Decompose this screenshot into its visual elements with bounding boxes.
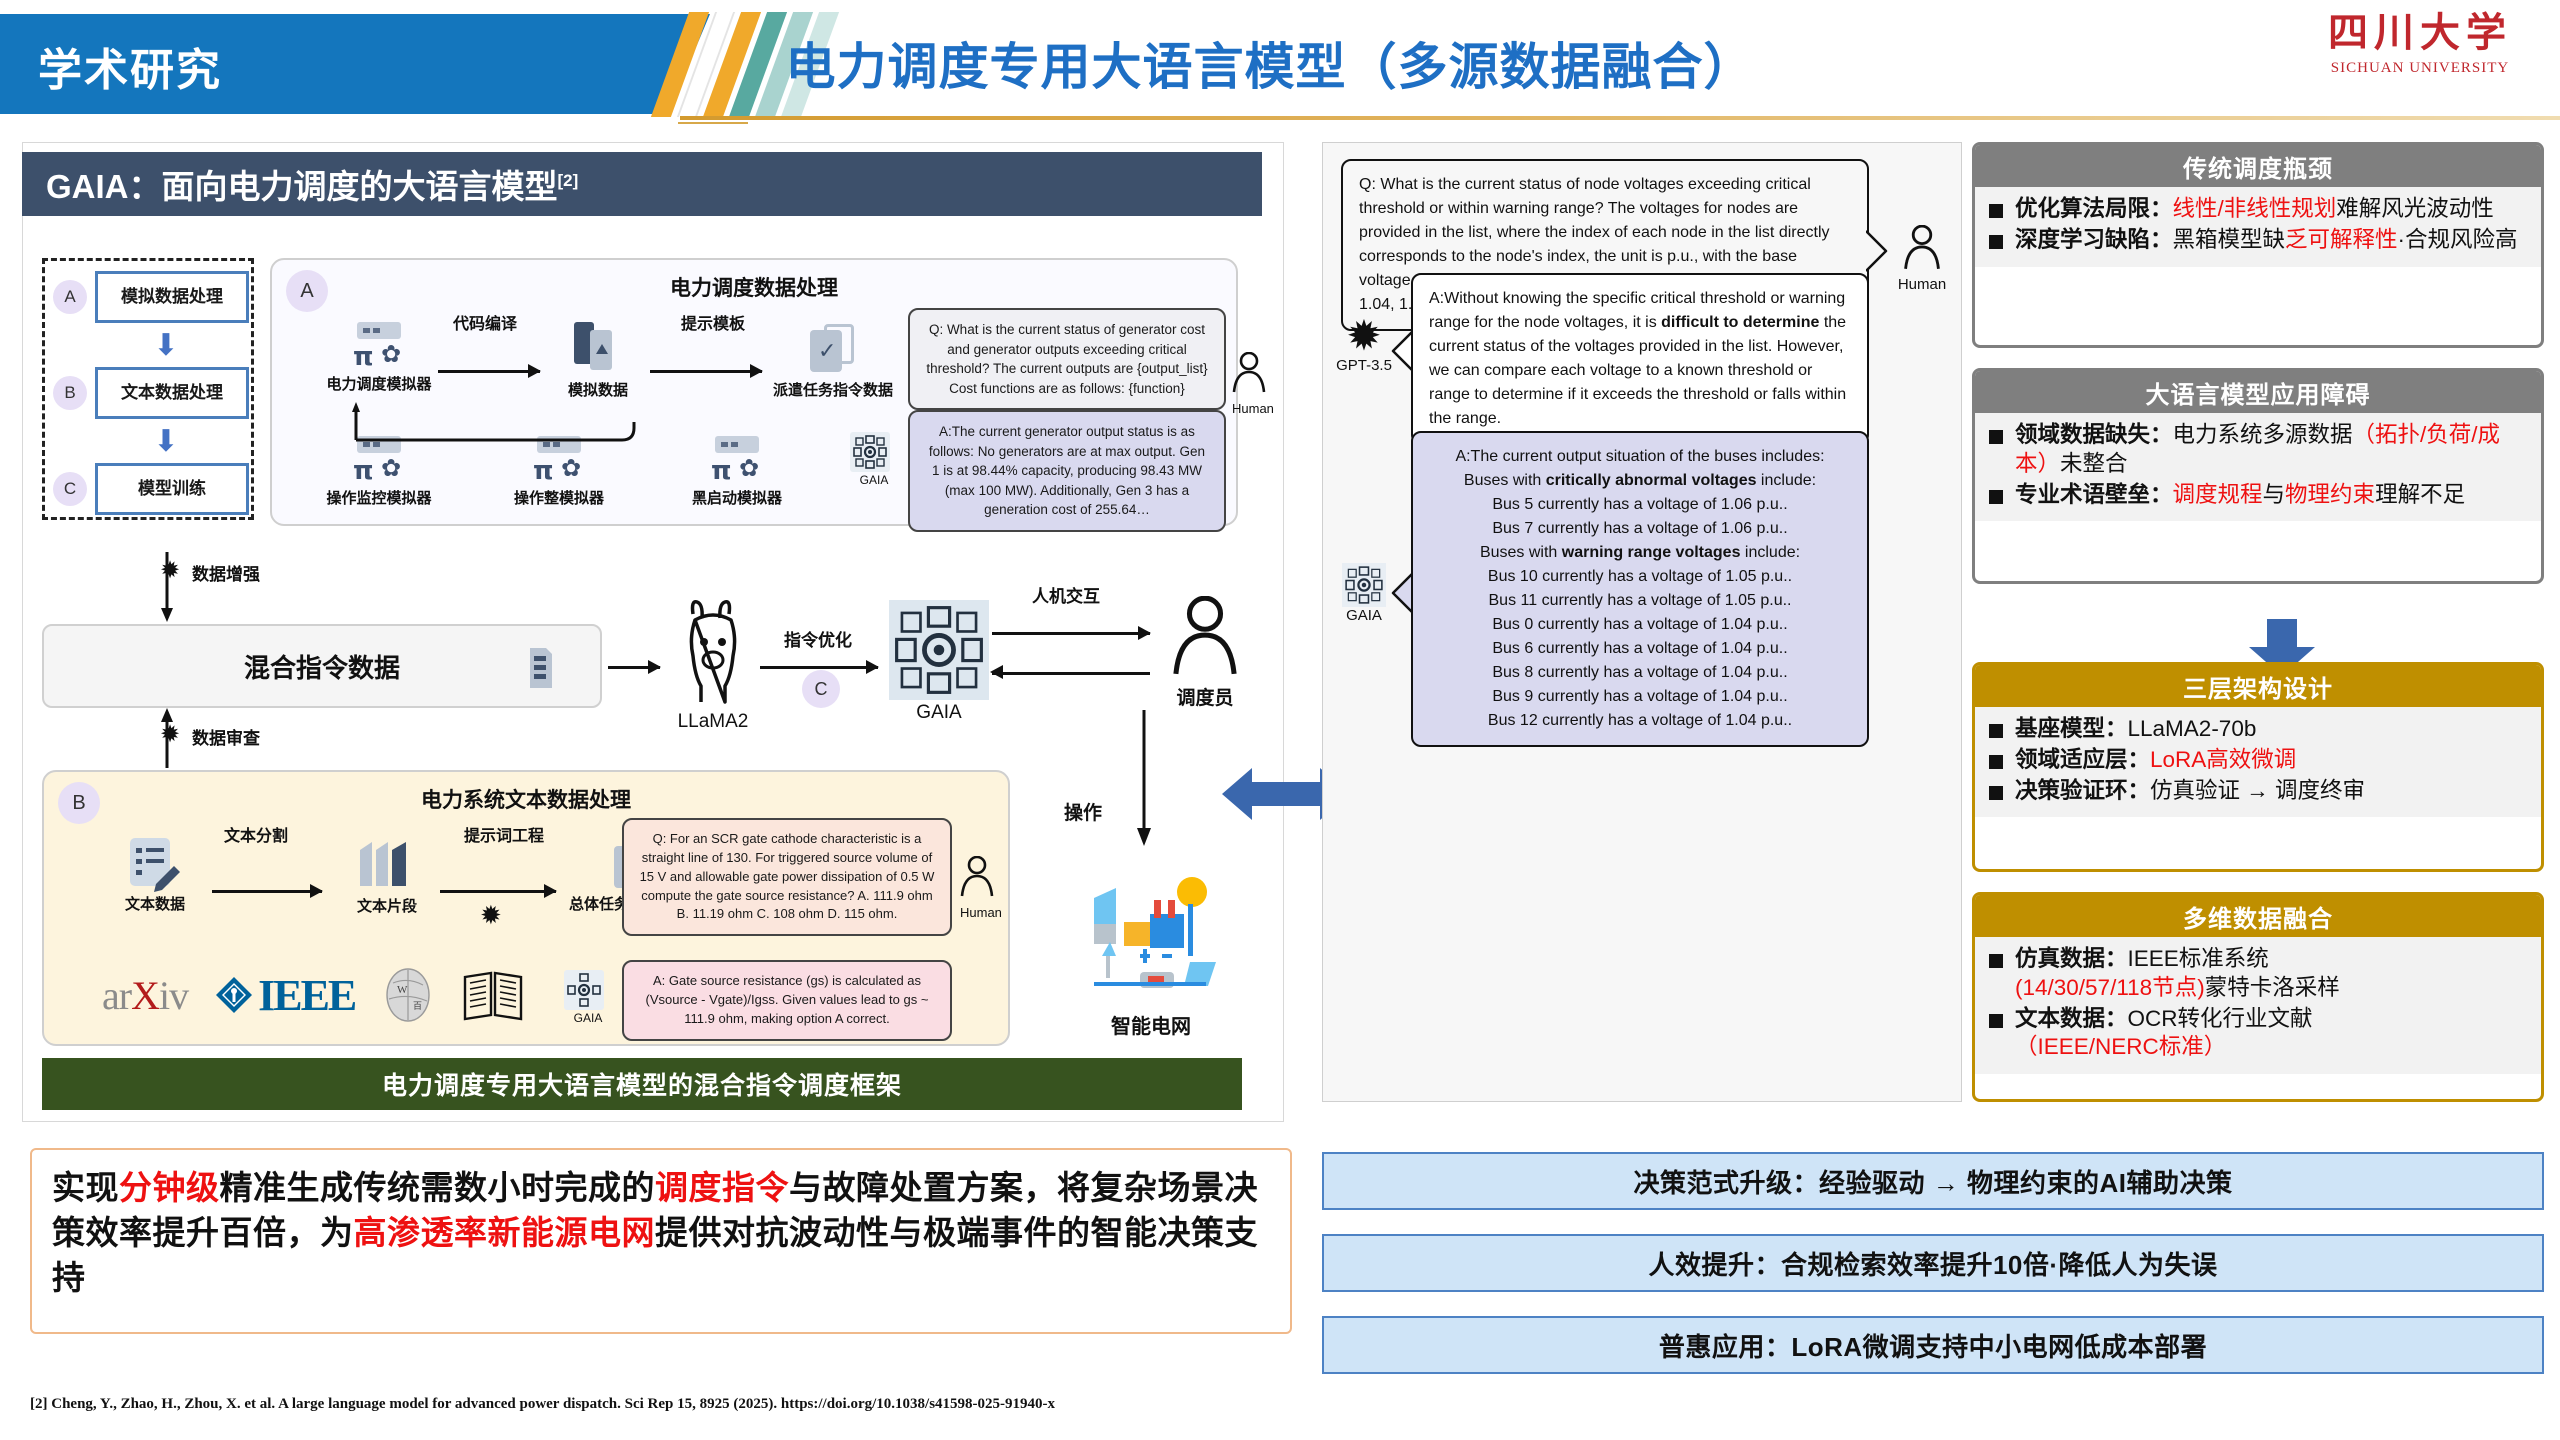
bullet-square-icon [1989,755,2003,769]
arrow-mix-to-llama-icon [608,666,660,669]
flow-label-operate: 操作 [1064,798,1102,825]
human-icon [1903,225,1941,271]
mid-human-label: Human [1893,276,1951,293]
flow-label-prompt-template: 提示模板 [658,316,768,334]
mid-gpt-answer-bold: difficult to determine [1661,314,1819,331]
bullet-seg: IEEE标准系统 [2128,946,2269,971]
node-label-blackstart-simulator: 黑启动模拟器 [672,490,802,507]
node-text-data: 文本数据 [100,836,210,913]
bullet-seg: 文本数据： [2015,1006,2128,1031]
section-a-human: Human [1232,352,1274,416]
card-traditional-bottleneck: 传统调度瓶颈 优化算法局限：线性/非线性规划难解风光波动性 深度学习缺陷：黑箱模… [1972,142,2544,348]
mid-gaia-crit-heading: Buses with critically abnormal voltages … [1429,469,1851,493]
list-item: Bus 6 currently has a voltage of 1.04 p.… [1429,637,1851,661]
bullet-row: 决策验证环：仿真验证 → 调度终审 [1989,777,2527,806]
card-multi-source-fusion: 多维数据融合 仿真数据：IEEE标准系统(14/30/57/118节点)蒙特卡洛… [1972,892,2544,1102]
svg-text:百: 百 [413,1001,422,1011]
flow-label-data-audit: 数据审查 [192,724,260,749]
node-label-dispatch-instruction-data: 派遣任务指令数据 [770,382,896,399]
node-label-text-fragment: 文本片段 [332,898,442,915]
flow-label-data-augmentation: 数据增强 [192,560,260,585]
stage-badge-c: C [53,472,87,506]
ieee-diamond-icon [214,975,254,1015]
ops-whole-simulator-icon: π✿ [531,436,587,486]
section-a-gaia-label: GAIA [850,473,898,487]
stage-row-a: A 模拟数据处理 [53,269,249,325]
bullet-seg: 物理约束 [2285,482,2375,507]
list-item: Bus 12 currently has a voltage of 1.04 p… [1429,709,1851,733]
bullet-text: 文本数据：OCR转化行业文献（IEEE/NERC标准） [2015,1005,2313,1063]
bullet-square-icon [1989,786,2003,800]
ieee-logo: IEEE [214,970,355,1021]
section-b-question-text: Q: For an SCR gate cathode characteristi… [640,831,935,921]
stage-row-b: B 文本数据处理 [53,365,249,421]
node-ops-monitor-simulator: π✿ 操作监控模拟器 [324,436,434,507]
framework-title-bar: 电力调度专用大语言模型的混合指令调度框架 [42,1058,1242,1110]
text-fragment-icon [354,836,420,890]
human-icon [1232,352,1266,394]
arrow-b2-icon [440,890,556,893]
conclusion-seg: 调度指令 [655,1169,789,1206]
section-a-human-label: Human [1232,401,1274,416]
bullet-seg: 与 [2263,482,2286,507]
gaia-big-icon-bg [889,600,989,700]
smart-grid-icon [1080,870,1220,1000]
conclusion-seg: 实现 [52,1169,119,1206]
node-label-operator: 调度员 [1150,683,1260,710]
arrow-down-aug-icon [157,552,177,624]
svg-text:W: W [397,984,408,996]
card-title: 三层架构设计 [1975,665,2541,707]
conclusion-box: 实现分钟级精准生成传统需数小时完成的调度指令与故障处置方案，将复杂场景决策效率提… [30,1148,1292,1334]
bullet-square-icon [1989,430,2003,444]
bullet-square-icon [1989,954,2003,968]
section-b-title: 电力系统文本数据处理 [44,784,1008,814]
section-b-answer-bubble: A: Gate source resistance (gs) is calcul… [622,960,952,1041]
mid-gaia-crit-list: Bus 5 currently has a voltage of 1.06 p.… [1429,493,1851,541]
bullet-text: 仿真数据：IEEE标准系统(14/30/57/118节点)蒙特卡洛采样 [2015,945,2340,1003]
conclusion-seg: 高渗透率新能源电网 [354,1214,656,1251]
node-operator: 调度员 [1150,596,1260,710]
bullet-seg: 决策验证环： [2015,778,2150,803]
feedback-lines-icon [352,396,772,442]
section-b-human-label: Human [960,905,1002,920]
bullet-text: 决策验证环：仿真验证 → 调度终审 [2015,777,2365,806]
section-b-answer-text: A: Gate source resistance (gs) is calcul… [646,973,929,1026]
list-item: Bus 9 currently has a voltage of 1.04 p.… [1429,685,1851,709]
node-label-smart-grid: 智能电网 [1076,1010,1226,1039]
header-tag: 学术研究 [38,34,222,98]
bullet-row: 专业术语壁垒：调度规程与物理约束理解不足 [1989,481,2527,510]
stage-badge-c-inline: C [802,670,840,708]
wikipedia-logo-icon: W 百 [381,967,435,1023]
section-a-question-text: Q: What is the current status of generat… [926,322,1207,396]
mid-gpt-answer-bubble: A:Without knowing the specific critical … [1411,273,1869,445]
gaia-network-big-icon [894,605,984,695]
bullet-seg: (14/30/57/118节点) [2015,975,2205,1000]
card-body: 领域数据缺失：电力系统多源数据（拓扑/负荷/成本）未整合 专业术语壁垒：调度规程… [1975,413,2541,521]
footnote-reference: [2] Cheng, Y., Zhao, H., Zhou, X. et al.… [30,1396,1055,1413]
bullet-seg: LLaMA2-70b [2128,716,2257,741]
bullet-row: 领域适应层：LoRA高效微调 [1989,746,2527,775]
gaia-icon [564,970,604,1010]
section-b-human: Human [960,856,1002,920]
section-a-answer-bubble: A:The current generator output status is… [908,410,1226,532]
mid-gaia-crit-post: include: [1756,472,1816,489]
gaia-network-icon [853,435,887,469]
conclusion-seg: 精准生成传统需数小时完成的 [220,1169,656,1206]
node-gaia: GAIA [884,600,994,724]
stage-row-c: C 模型训练 [53,461,249,517]
bullet-row: 文本数据：OCR转化行业文献（IEEE/NERC标准） [1989,1005,2527,1063]
data-card-triangle-icon [596,344,608,354]
flow-label-prompt-engineering: 提示词工程 [444,828,564,846]
gaia-icon [1342,563,1386,607]
bullet-row: 优化算法局限：线性/非线性规划难解风光波动性 [1989,195,2527,224]
bullet-seg: 仿真验证 → 调度终审 [2150,778,2365,803]
bullet-seg: OCR转化行业文献 [2128,1006,2313,1031]
list-item: Bus 10 currently has a voltage of 1.05 p… [1429,565,1851,589]
mid-gpt-label: GPT-3.5 [1333,357,1395,374]
bullet-row: 基座模型：LLaMA2-70b [1989,715,2527,744]
node-label-ops-whole-simulator: 操作整模拟器 [494,490,624,507]
arxiv-logo: arXiv [102,972,188,1019]
stage-box-a: 模拟数据处理 [95,271,249,323]
bullet-seg: 领域数据缺失： [2015,422,2173,447]
mid-gaia-warn-bold: warning range voltages [1562,544,1741,561]
section-b-container: B 电力系统文本数据处理 文本数据 文本分割 文本片段 提示词工程 ✹ ✓ [42,770,1010,1046]
bullet-seg: 未整合 [2060,451,2128,476]
mid-gaia-warn-pre: Buses with [1480,544,1562,561]
stage-column: A 模拟数据处理 ⬇ B 文本数据处理 ⬇ C 模型训练 [42,258,254,520]
list-item: Bus 11 currently has a voltage of 1.05 p… [1429,589,1851,613]
stage-badge-b: B [53,376,87,410]
llama-icon [671,598,755,708]
stage-arrow-1-icon: ⬇ [151,329,181,363]
stage-badge-a: A [53,280,87,314]
node-label-ops-monitor-simulator: 操作监控模拟器 [324,490,434,507]
gaia-icon [850,432,890,472]
card-title: 传统调度瓶颈 [1975,145,2541,187]
database-icon [528,646,554,690]
flow-label-instruction-optimize: 指令优化 [784,626,852,651]
gpt-icon-b: ✹ [480,900,502,931]
conclusion-text: 实现分钟级精准生成传统需数小时完成的调度指令与故障处置方案，将复杂场景决策效率提… [52,1166,1270,1301]
bullet-seg: 蒙特卡洛采样 [2205,975,2340,1000]
stage-box-c: 模型训练 [95,463,249,515]
flow-label-code-compile: 代码编译 [440,316,530,334]
bullet-seg: 专业术语壁垒： [2015,482,2173,507]
header-gold-rule-tick [678,122,748,124]
section-a-container: A 电力调度数据处理 π✿ 电力调度模拟器 代码编译 模拟数据 提示模板 ✓ 派… [270,258,1238,526]
node-dispatch-instruction-data: ✓ 派遣任务指令数据 [770,322,896,399]
list-item: Bus 5 currently has a voltage of 1.06 p.… [1429,493,1851,517]
arrow-down-operate-icon [1132,710,1156,850]
arrow-gaia-to-operator-icon [992,632,1150,635]
text-data-icon [126,836,184,892]
bullet-seg: 线性/非线性规划 [2173,196,2337,221]
page-header: 学术研究 电力调度专用大语言模型（多源数据融合） 四川大学 SICHUAN UN… [0,0,2560,128]
bullet-square-icon [1989,724,2003,738]
mid-gaia-warn-list: Bus 10 currently has a voltage of 1.05 p… [1429,565,1851,733]
mixed-instruction-data-box: 混合指令数据 [42,624,602,708]
gaia-network-icon [1345,566,1383,604]
card-title: 多维数据融合 [1975,895,2541,937]
bullet-seg: 电力系统多源数据 [2173,422,2353,447]
node-power-simulator: π✿ 电力调度模拟器 [324,322,434,393]
arrow-operator-to-gaia-line [992,672,1150,675]
section-b-gaia-label: GAIA [564,1011,612,1025]
arrow-a2-icon [650,370,762,373]
section-a-question-bubble: Q: What is the current status of generat… [908,308,1226,410]
arrow-b1-icon [212,890,322,893]
bullet-text: 专业术语壁垒：调度规程与物理约束理解不足 [2015,481,2465,510]
logo-en-text: SICHUAN UNIVERSITY [2290,60,2550,77]
gaia-network-icon [567,973,601,1007]
bullet-seg: 难解风光波动性 [2336,196,2494,221]
left-panel-title-ref: [2] [558,171,579,190]
section-b-gaia: GAIA [564,970,612,1025]
card-llm-barriers: 大语言模型应用障碍 领域数据缺失：电力系统多源数据（拓扑/负荷/成本）未整合 专… [1972,368,2544,584]
node-text-fragment: 文本片段 [332,836,442,915]
card-body: 优化算法局限：线性/非线性规划难解风光波动性 深度学习缺陷：黑箱模型缺乏可解释性… [1975,187,2541,267]
stage-arrow-2-icon: ⬇ [151,425,181,459]
left-panel-title-bar: GAIA：面向电力调度的大语言模型[2] [22,152,1262,216]
simulator-icon: π✿ [351,322,407,372]
bullet-text: 领域适应层：LoRA高效微调 [2015,746,2296,775]
mid-gaia-warn-post: include: [1740,544,1800,561]
bullet-seg: 优化算法局限： [2015,196,2173,221]
node-llama2: LLaMA2 [658,598,768,733]
bullet-square-icon [1989,1014,2003,1028]
section-a-title: 电力调度数据处理 [272,272,1236,302]
university-logo: 四川大学 SICHUAN UNIVERSITY [2290,8,2550,118]
node-simulation-data: 模拟数据 [550,322,646,399]
mid-question-tail-icon [1866,229,1890,273]
bullet-seg: （IEEE/NERC标准） [2015,1034,2226,1059]
bullet-seg: LoRA高效微调 [2150,747,2296,772]
ops-monitor-simulator-icon: π✿ [351,436,407,486]
middle-flow: ✹ 数据增强 混合指令数据 ✹ 数据审查 LLaMA2 指令优化 C [42,560,1242,770]
bullet-seg: 乏可解释性 [2285,227,2398,252]
bullet-seg: 调度规程 [2173,482,2263,507]
card-three-layer-architecture: 三层架构设计 基座模型：LLaMA2-70b 领域适应层：LoRA高效微调 决策… [1972,662,2544,872]
books-icon [461,969,525,1021]
conclusion-seg: 分钟级 [119,1169,220,1206]
card-body: 仿真数据：IEEE标准系统(14/30/57/118节点)蒙特卡洛采样 文本数据… [1975,937,2541,1074]
band-inclusive-application: 普惠应用：LoRA微调支持中小电网低成本部署 [1322,1316,2544,1374]
bullet-seg: 理解不足 [2375,482,2465,507]
arrow-a1-icon [438,370,540,373]
mid-gaia-answer-head: A:The current output situation of the bu… [1429,445,1851,469]
node-label-llama2: LLaMA2 [658,711,768,733]
mid-gaia-crit-bold: critically abnormal voltages [1546,472,1757,489]
header-gold-rule [680,116,2560,120]
bullet-text: 领域数据缺失：电力系统多源数据（拓扑/负荷/成本）未整合 [2015,421,2527,479]
list-item: Bus 7 currently has a voltage of 1.06 p.… [1429,517,1851,541]
bullet-square-icon [1989,490,2003,504]
band-efficiency: 人效提升：合规检索效率提升10倍·降低人为失误 [1322,1234,2544,1292]
mid-gaia-crit-pre: Buses with [1464,472,1546,489]
section-a-answer-text: A:The current generator output status is… [929,424,1205,517]
card-body: 基座模型：LLaMA2-70b 领域适应层：LoRA高效微调 决策验证环：仿真验… [1975,707,2541,817]
mid-gaia-label: GAIA [1333,607,1395,624]
list-item: Bus 0 currently has a voltage of 1.04 p.… [1429,613,1851,637]
left-panel-title-text: GAIA：面向电力调度的大语言模型 [46,168,558,205]
section-b-question-bubble: Q: For an SCR gate cathode characteristi… [622,818,952,936]
openai-icon: ✹ [1333,315,1395,357]
node-blackstart-simulator: π✿ 黑启动模拟器 [672,436,802,507]
band-decision-paradigm: 决策范式升级：经验驱动 → 物理约束的AI辅助决策 [1322,1152,2544,1210]
bullet-seg: 领域适应层： [2015,747,2150,772]
bullet-row: 仿真数据：IEEE标准系统(14/30/57/118节点)蒙特卡洛采样 [1989,945,2527,1003]
card-title: 大语言模型应用障碍 [1975,371,2541,413]
node-label-text-data: 文本数据 [100,896,210,913]
human-icon [960,856,994,898]
logo-cn-text: 四川大学 [2290,8,2550,58]
mid-column: Q: What is the current status of node vo… [1322,142,1962,1102]
bullet-seg: 深度学习缺陷： [2015,227,2173,252]
mid-gpt: ✹ GPT-3.5 [1333,315,1395,374]
node-label-gaia: GAIA [884,702,994,724]
mixed-instruction-data-label: 混合指令数据 [244,648,400,685]
mid-human: Human [1893,225,1951,293]
node-ops-whole-simulator: π✿ 操作整模拟器 [494,436,624,507]
flow-label-text-split: 文本分割 [216,828,296,846]
bullet-square-icon [1989,235,2003,249]
operator-human-icon [1172,596,1238,678]
bullet-seg: 基座模型： [2015,716,2128,741]
bullet-seg: 黑箱模型缺 [2173,227,2286,252]
mid-gaia: GAIA [1333,563,1395,624]
check-icon: ✓ [818,340,836,362]
list-item: Bus 8 currently has a voltage of 1.04 p.… [1429,661,1851,685]
section-a-gaia: GAIA [850,432,898,487]
blackstart-simulator-icon: π✿ [709,436,765,486]
bullet-text: 深度学习缺陷：黑箱模型缺乏可解释性·合规风险高 [2015,226,2518,255]
bullet-row: 领域数据缺失：电力系统多源数据（拓扑/负荷/成本）未整合 [1989,421,2527,479]
arrow-up-audit-icon [157,708,177,770]
node-label-power-simulator: 电力调度模拟器 [324,376,434,393]
left-panel-title: GAIA：面向电力调度的大语言模型[2] [22,160,578,208]
mid-gaia-warn-heading: Buses with warning range voltages includ… [1429,541,1851,565]
bullet-square-icon [1989,204,2003,218]
flow-label-hci: 人机交互 [1032,582,1100,607]
bullet-seg: 仿真数据： [2015,946,2128,971]
bullet-seg: ·合规风险高 [2398,227,2518,252]
arrow-llama-to-gaia-icon [760,666,878,669]
mid-gaia-answer-bubble: A:The current output situation of the bu… [1411,431,1869,747]
stage-box-b: 文本数据处理 [95,367,249,419]
page-title: 电力调度专用大语言模型（多源数据融合） [700,18,1840,108]
bullet-row: 深度学习缺陷：黑箱模型缺乏可解释性·合规风险高 [1989,226,2527,255]
bullet-text: 优化算法局限：线性/非线性规划难解风光波动性 [2015,195,2494,224]
arrow-operator-to-gaia-head-icon [990,665,1003,679]
bullet-text: 基座模型：LLaMA2-70b [2015,715,2256,744]
